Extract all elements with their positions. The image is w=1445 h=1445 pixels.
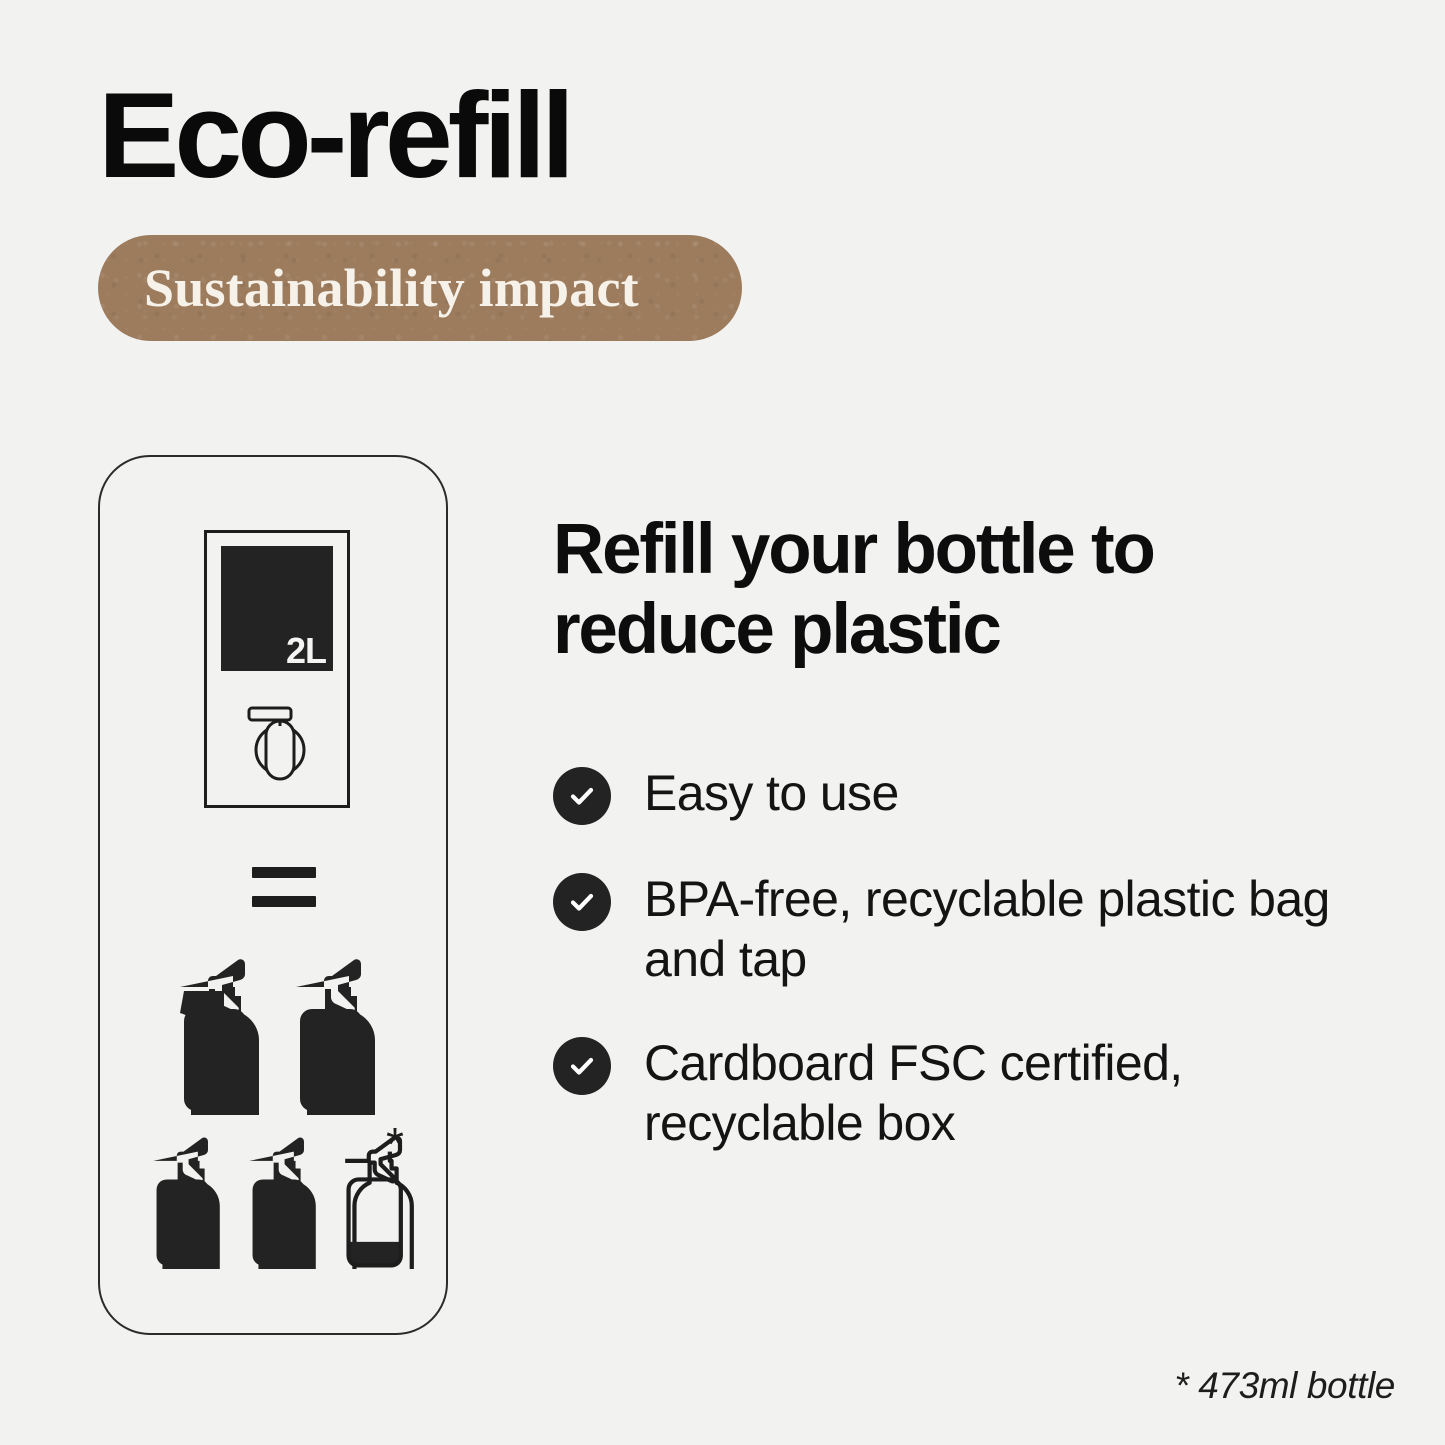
benefit-label: Cardboard FSC certified, recyclable box — [644, 1033, 1383, 1153]
list-item: Cardboard FSC certified, recyclable box — [553, 1033, 1383, 1153]
carton-volume-label: 2L — [286, 633, 326, 669]
sustainability-badge: Sustainability impact — [98, 235, 742, 341]
benefit-label: Easy to use — [644, 763, 899, 823]
bottle-row-bottom — [138, 1127, 416, 1269]
spray-bottle-icon — [162, 947, 264, 1115]
page-title: Eco-refill — [98, 74, 570, 196]
spray-bottle-icon — [234, 1127, 320, 1269]
benefit-label: BPA-free, recyclable plastic bag and tap — [644, 869, 1383, 989]
equals-bar-top — [252, 867, 316, 878]
list-item: Easy to use — [553, 763, 1383, 825]
check-icon — [553, 1037, 611, 1095]
bottle-row-top — [162, 947, 380, 1115]
refill-illustration-card: 2L — [98, 455, 448, 1335]
check-icon — [553, 767, 611, 825]
equals-symbol — [252, 867, 316, 907]
refill-carton-graphic: 2L — [204, 530, 350, 808]
carton-label-panel: 2L — [221, 546, 333, 671]
footnote: * 473ml bottle — [1174, 1365, 1395, 1407]
check-icon — [553, 873, 611, 931]
infographic-canvas: Eco-refill Sustainability impact 2L — [0, 0, 1445, 1445]
list-item: BPA-free, recyclable plastic bag and tap — [553, 869, 1383, 989]
spray-bottle-icon — [278, 947, 380, 1115]
sustainability-badge-label: Sustainability impact — [144, 257, 639, 319]
headline: Refill your bottle to reduce plastic — [553, 510, 1293, 670]
equals-bar-bottom — [252, 896, 316, 907]
footnote-asterisk-marker: * — [386, 1121, 404, 1167]
benefits-list: Easy to use BPA-free, recyclable plastic… — [553, 763, 1383, 1197]
spray-bottle-icon — [138, 1127, 224, 1269]
tap-icon — [240, 698, 320, 788]
